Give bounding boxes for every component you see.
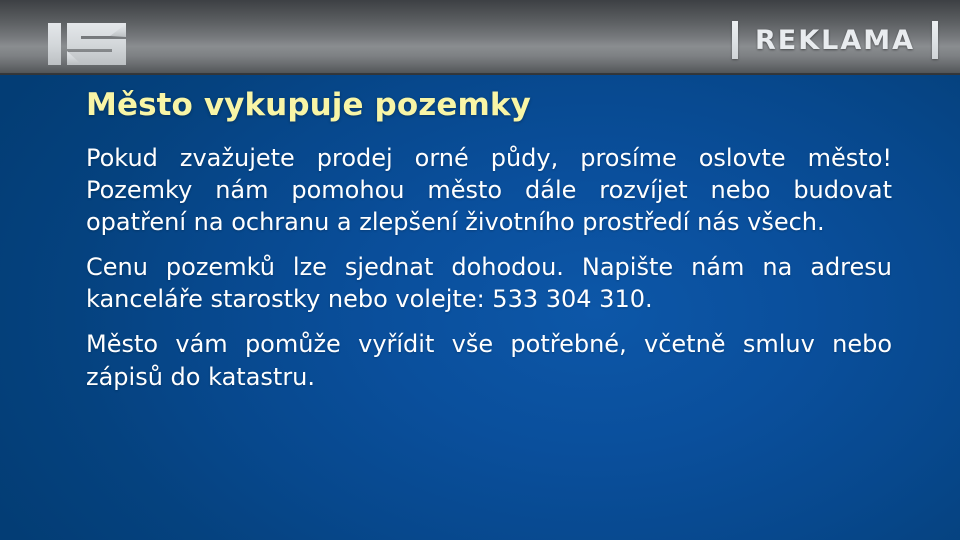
is-monogram-logo — [48, 23, 126, 65]
body-paragraph-1: Pokud zvažujete prodej orné půdy, prosím… — [86, 142, 892, 238]
body-paragraph-2: Cenu pozemků lze sjednat dohodou. Napišt… — [86, 251, 892, 315]
slide-canvas: REKLAMA Město vykupuje pozemky Pokud zva… — [0, 0, 960, 540]
slide-content: Město vykupuje pozemky Pokud zvažujete p… — [86, 88, 892, 393]
body-paragraph-3: Město vám pomůže vyřídit vše potřebné, v… — [86, 328, 892, 392]
header-bar: REKLAMA — [0, 0, 960, 75]
reklama-left-bar-icon — [732, 21, 738, 59]
page-title: Město vykupuje pozemky — [86, 88, 892, 124]
reklama-label-group: REKLAMA — [732, 18, 938, 62]
reklama-right-bar-icon — [932, 21, 938, 59]
reklama-label: REKLAMA — [755, 25, 915, 56]
